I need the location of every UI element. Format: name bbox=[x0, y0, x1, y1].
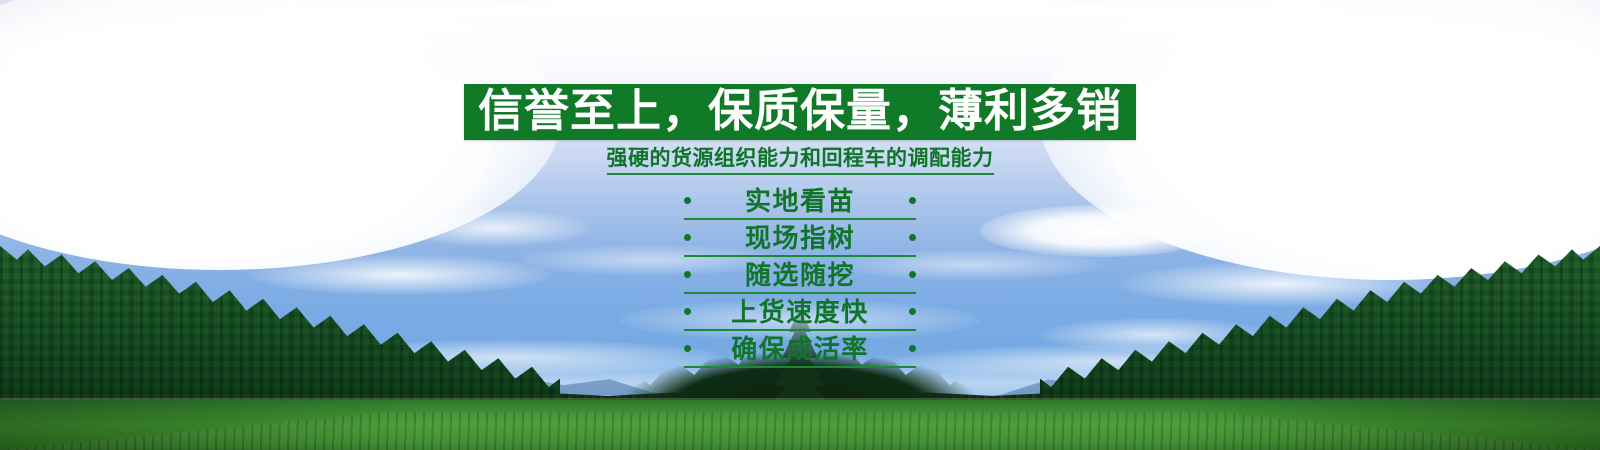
feature-label: 确保成活率 bbox=[691, 336, 909, 362]
bullet-dot-left-icon bbox=[684, 308, 691, 315]
feature-item: 现场指树 bbox=[684, 220, 916, 257]
feature-item: 随选随挖 bbox=[684, 257, 916, 294]
bullet-dot-right-icon bbox=[909, 197, 916, 204]
bullet-dot-left-icon bbox=[684, 197, 691, 204]
headline-text: 信誉至上，保质保量，薄利多销 bbox=[478, 88, 1122, 133]
feature-label: 现场指树 bbox=[691, 225, 909, 251]
bullet-dot-left-icon bbox=[684, 345, 691, 352]
feature-list: 实地看苗 现场指树 随选随挖 上货速度快 确保成活率 bbox=[684, 183, 916, 368]
headline-bar: 信誉至上，保质保量，薄利多销 bbox=[464, 84, 1136, 140]
bullet-dot-right-icon bbox=[909, 271, 916, 278]
feature-label: 上货速度快 bbox=[691, 299, 909, 325]
bullet-dot-left-icon bbox=[684, 271, 691, 278]
promo-banner: 信誉至上，保质保量，薄利多销 强硬的货源组织能力和回程车的调配能力 实地看苗 现… bbox=[0, 0, 1600, 450]
feature-label: 实地看苗 bbox=[691, 188, 909, 214]
bullet-dot-left-icon bbox=[684, 234, 691, 241]
bullet-dot-right-icon bbox=[909, 308, 916, 315]
feature-item: 实地看苗 bbox=[684, 183, 916, 220]
banner-content: 信誉至上，保质保量，薄利多销 强硬的货源组织能力和回程车的调配能力 实地看苗 现… bbox=[0, 0, 1600, 450]
feature-item: 确保成活率 bbox=[684, 331, 916, 368]
subheadline-text: 强硬的货源组织能力和回程车的调配能力 bbox=[607, 147, 994, 175]
bullet-dot-right-icon bbox=[909, 234, 916, 241]
feature-label: 随选随挖 bbox=[691, 262, 909, 288]
bullet-dot-right-icon bbox=[909, 345, 916, 352]
feature-item: 上货速度快 bbox=[684, 294, 916, 331]
